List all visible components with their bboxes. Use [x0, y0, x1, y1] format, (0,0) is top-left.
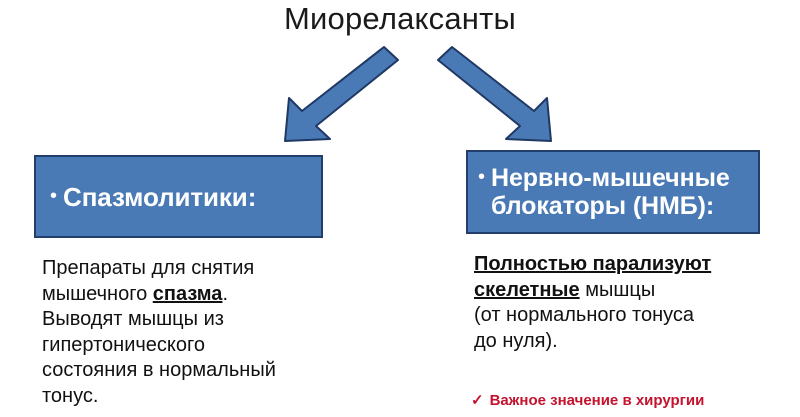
body-right-after-emphasis: мышцы [580, 279, 656, 301]
body-text-nmb: Полностью парализуют скелетные мышцы (от… [474, 252, 784, 354]
bullet-icon: • [50, 183, 57, 209]
arrow-to-nmb-icon [438, 47, 551, 141]
slide-canvas: Миорелаксанты • Спазмолитики: Препараты … [0, 0, 800, 417]
page-title: Миорелаксанты [0, 1, 800, 37]
body-left-rest: Выводят мышцы из гипертонического состоя… [42, 308, 276, 407]
check-icon: ✓ [471, 391, 484, 411]
header-box-nmb: • Нервно-мышечные блокаторы (НМБ): [466, 150, 760, 234]
header-label-spasmolytics: Спазмолитики: [63, 183, 256, 211]
body-left-emphasis: спазма [153, 283, 223, 305]
body-text-spasmolytics: Препараты для снятия мышечного спазма. В… [42, 256, 342, 409]
body-left-suffix: . [222, 283, 228, 305]
arrow-to-spasmolytics-icon [285, 47, 398, 141]
header-label-nmb: Нервно-мышечные блокаторы (НМБ): [491, 164, 730, 220]
body-right-rest: (от нормального тонуса до нуля). [474, 304, 694, 352]
bullet-icon: • [478, 164, 485, 190]
note-surgery-importance-text: Важное значение в хирургии [490, 391, 705, 411]
note-surgery-importance: ✓ Важное значение в хирургии [471, 391, 704, 411]
header-box-spasmolytics: • Спазмолитики: [34, 155, 323, 238]
